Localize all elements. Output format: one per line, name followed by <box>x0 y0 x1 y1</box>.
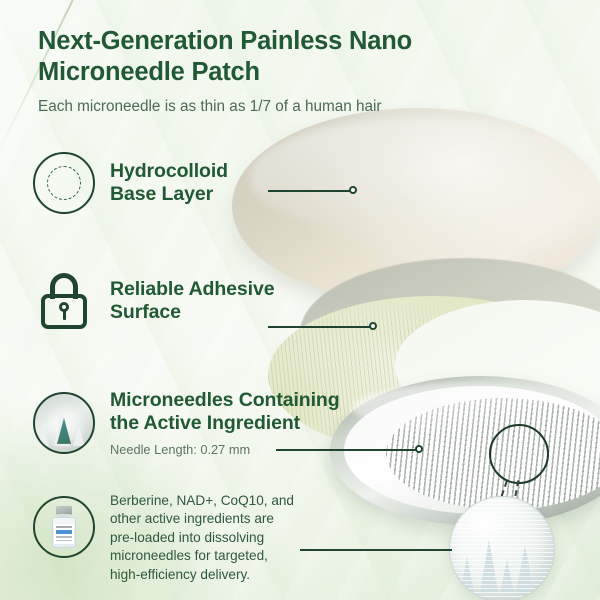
feature-icon-wrap <box>28 152 100 214</box>
magnified-needle-rings <box>450 497 554 600</box>
page-subtitle: Each microneedle is as thin as 1/7 of a … <box>38 97 508 117</box>
magnified-needle-cone <box>536 563 548 593</box>
feature-heading: Reliable Adhesive Surface <box>110 278 274 325</box>
feature-heading-line-2: Base Layer <box>110 183 213 205</box>
feature-heading: Hydrocolloid Base Layer <box>110 160 228 207</box>
magnified-needle-cone <box>500 559 514 593</box>
ingredients-line-5: high-efficiency delivery. <box>110 567 250 582</box>
feature-heading-line-1: Microneedles Containing <box>110 389 340 411</box>
callout-leader-dash-left <box>494 481 508 516</box>
feature-text: Reliable Adhesive Surface <box>110 278 274 325</box>
feature-text: Microneedles Containing the Active Ingre… <box>110 389 340 457</box>
base-layer-sheen <box>250 118 586 238</box>
needle-length-label: Needle Length: 0.27 mm <box>110 442 340 457</box>
microneedle-disc-highlight <box>352 382 600 434</box>
feature-active-ingredients-description: Berberine, NAD+, CoQ10, and other active… <box>28 492 294 584</box>
page-title-line-2: Microneedle Patch <box>38 58 260 86</box>
feature-microneedles-active-ingredient: Microneedles Containing the Active Ingre… <box>28 389 340 457</box>
microneedle-callout-ring <box>489 424 549 484</box>
feature-heading-line-2: the Active Ingredient <box>110 412 300 434</box>
microneedle-spike-field <box>386 398 600 510</box>
vial-graphic <box>52 506 76 548</box>
connector-endpoint-dot <box>349 186 357 194</box>
connector-line-ingredients <box>300 549 452 551</box>
feature-text: Hydrocolloid Base Layer <box>110 160 228 207</box>
vial-label-line <box>56 526 72 528</box>
callout-leader-dash-right <box>511 480 520 516</box>
connector-endpoint-dot <box>415 445 423 453</box>
feature-icon-wrap <box>28 496 100 558</box>
feature-icon-wrap <box>28 392 100 454</box>
hydrocolloid-base-layer <box>232 108 600 304</box>
connector-line-hydrocolloid <box>268 190 352 192</box>
feature-heading-line-2: Surface <box>110 301 181 323</box>
needle-peak <box>73 426 85 446</box>
page-title: Next-Generation Painless Nano Microneedl… <box>38 26 508 88</box>
adhesive-layer-cutout <box>395 300 600 432</box>
vial-label-line <box>56 540 72 542</box>
ingredients-line-2: other active ingredients are <box>110 511 274 526</box>
vial-label <box>54 524 74 544</box>
padlock-icon <box>35 272 93 330</box>
microneedle-photo-icon <box>33 392 95 454</box>
magnified-needle-cone <box>460 557 474 593</box>
magnified-needle-cone <box>480 539 498 593</box>
ingredients-line-1: Berberine, NAD+, CoQ10, and <box>110 493 294 508</box>
feature-reliable-adhesive-surface: Reliable Adhesive Surface <box>28 272 274 330</box>
padlock-keyhole-stem <box>63 310 66 320</box>
vial-label-line <box>56 536 72 538</box>
infographic-poster: Next-Generation Painless Nano Microneedl… <box>0 0 600 600</box>
ingredients-description: Berberine, NAD+, CoQ10, and other active… <box>110 492 294 584</box>
microneedle-magnified-bubble <box>449 496 555 600</box>
ingredients-line-4: microneedles for targeted, <box>110 548 268 563</box>
feature-hydrocolloid-base-layer: Hydrocolloid Base Layer <box>28 152 228 214</box>
feature-heading-line-1: Hydrocolloid <box>110 160 228 182</box>
magnified-needle-cone <box>516 545 534 593</box>
ingredients-line-3: pre-loaded into dissolving <box>110 530 264 545</box>
adhesive-layer-shadow <box>300 258 600 408</box>
feature-heading-line-1: Reliable Adhesive <box>110 278 274 300</box>
header: Next-Generation Painless Nano Microneedl… <box>38 26 508 117</box>
vial-body <box>52 517 76 548</box>
page-title-line-1: Next-Generation Painless Nano <box>38 27 412 55</box>
connector-line-adhesive <box>268 326 372 328</box>
vial-icon <box>33 496 95 558</box>
needle-peak <box>37 426 49 446</box>
feature-heading: Microneedles Containing the Active Ingre… <box>110 389 340 436</box>
connector-endpoint-dot <box>369 322 377 330</box>
feature-icon-wrap <box>28 272 100 330</box>
dashed-circle-icon <box>33 152 95 214</box>
microneedle-disc-layer <box>330 376 600 526</box>
dashed-circle-inner <box>47 166 81 200</box>
feature-text: Berberine, NAD+, CoQ10, and other active… <box>110 492 294 584</box>
vial-label-highlight <box>56 530 72 534</box>
